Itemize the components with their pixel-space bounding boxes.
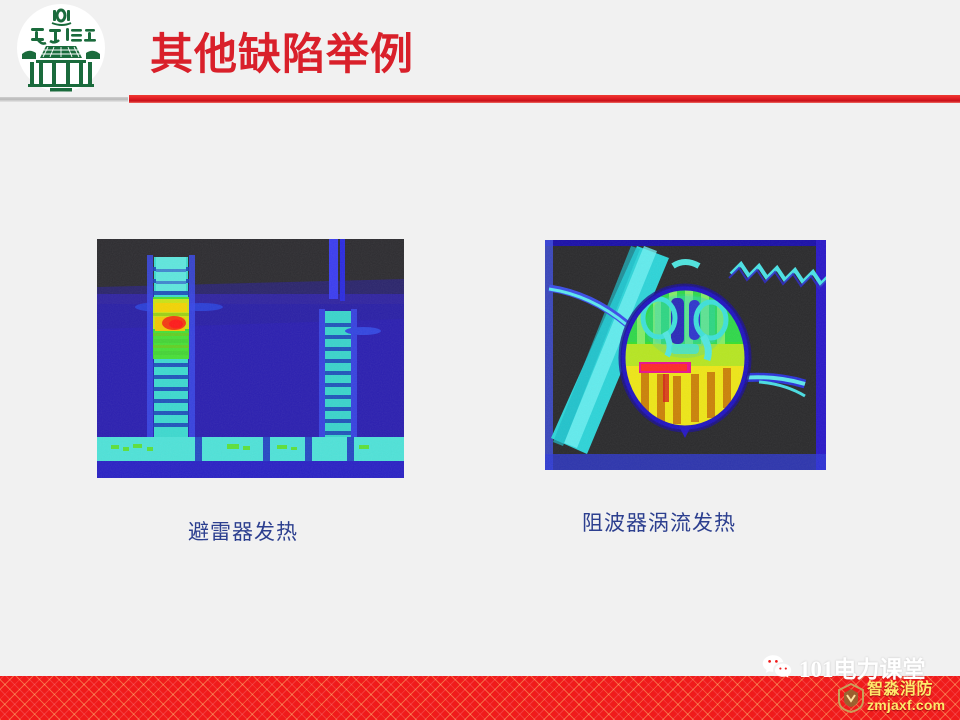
thermal-image-surge-arrester <box>97 239 404 478</box>
watermark-line2: zmjaxf.com <box>867 697 945 713</box>
course-logo <box>14 2 108 94</box>
watermark: 智淼消防 zmjaxf.com <box>838 676 960 720</box>
slide-canvas: 其他缺陷举例 <box>0 0 960 720</box>
watermark-text: 智淼消防 zmjaxf.com <box>867 682 945 714</box>
watermark-line1: 智淼消防 <box>867 681 933 698</box>
wechat-icon <box>762 654 792 680</box>
figure-caption-left: 避雷器发热 <box>188 516 298 546</box>
figure-line-trap: 阻波器涡流发热 <box>545 240 826 470</box>
slide-header: 其他缺陷举例 <box>0 0 960 100</box>
page-title: 其他缺陷举例 <box>150 26 414 86</box>
thermal-image-line-trap <box>545 240 826 470</box>
figure-surge-arrester: 避雷器发热 <box>97 239 404 478</box>
header-divider-gray <box>0 97 128 102</box>
figure-caption-right: 阻波器涡流发热 <box>582 507 736 537</box>
header-divider-red <box>129 95 960 103</box>
zhimiao-logo-icon <box>838 683 864 713</box>
